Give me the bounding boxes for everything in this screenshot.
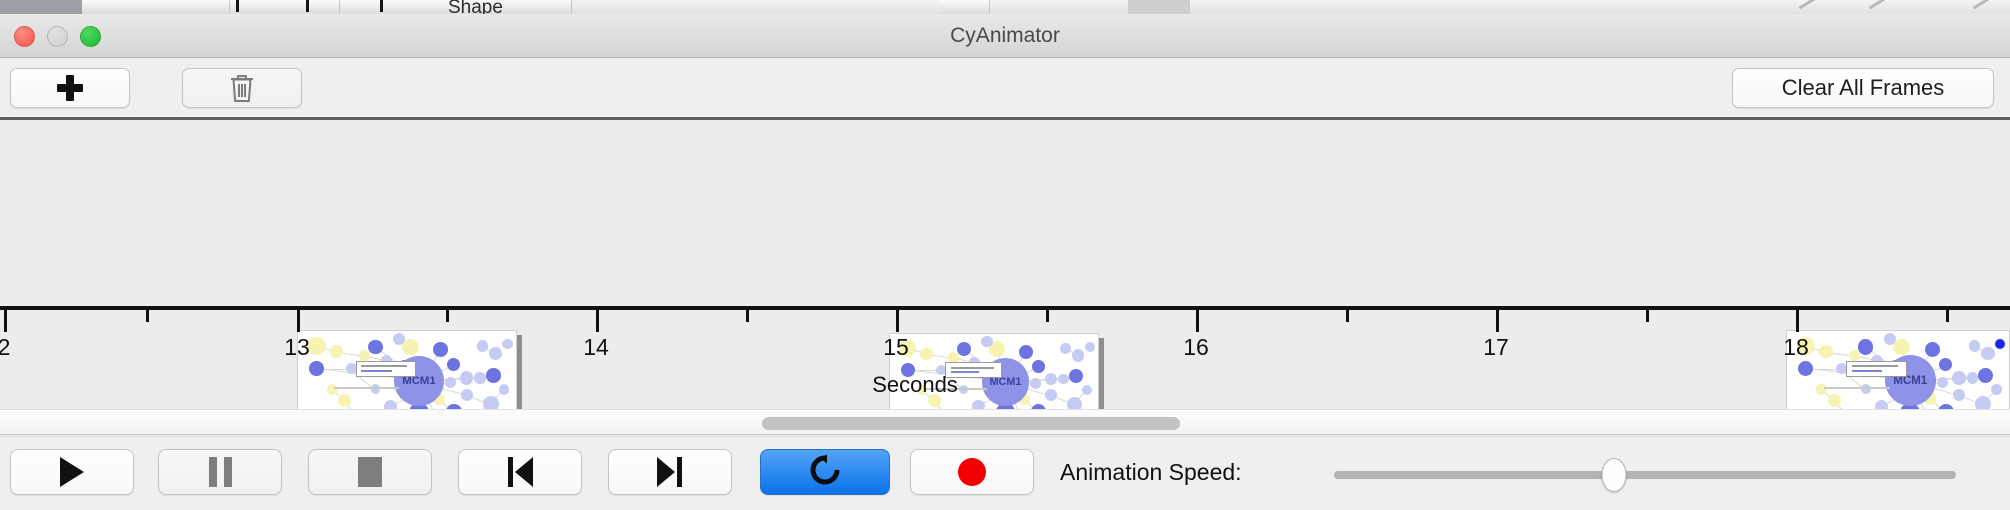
tick-minor: [1046, 310, 1049, 322]
timeline-scrollbar[interactable]: [0, 409, 2010, 435]
network-node: [1969, 340, 1981, 352]
animation-speed-slider[interactable]: [1334, 471, 1956, 479]
tick-major: [1496, 310, 1499, 332]
timeline-scrollbar-thumb[interactable]: [762, 417, 1180, 430]
tick-label: 15: [883, 334, 909, 361]
record-button[interactable]: [910, 449, 1034, 495]
axis-title-label: Seconds: [872, 372, 958, 397]
network-node: [981, 336, 993, 348]
network-node: [1981, 347, 1994, 360]
network-node: [1975, 396, 1991, 409]
tick-major: [896, 310, 899, 332]
network-node: [1819, 345, 1832, 358]
animation-speed-label: Animation Speed:: [1060, 459, 1242, 486]
play-button[interactable]: [10, 449, 134, 495]
network-node: [920, 348, 932, 360]
network-node: [1072, 349, 1084, 361]
network-node: [477, 340, 488, 351]
background-app-label: Shape: [448, 0, 503, 14]
slider-track: [1334, 471, 1956, 479]
trash-icon: [229, 73, 255, 103]
network-node: [502, 339, 512, 349]
background-window-strip: Shape: [0, 0, 2010, 14]
network-node: [972, 400, 984, 409]
network-node: [489, 347, 502, 360]
network-node: [1060, 343, 1071, 354]
record-icon: [958, 458, 986, 486]
tick-label: 17: [1483, 334, 1509, 361]
play-icon: [60, 457, 84, 487]
tick-major: [297, 310, 300, 332]
pause-icon: [209, 457, 232, 487]
toolbar: Clear All Frames: [0, 58, 2010, 117]
window-title: CyAnimator: [0, 14, 2010, 58]
network-node: [1019, 345, 1033, 359]
network-node: [1875, 400, 1888, 409]
loop-icon: [808, 453, 842, 492]
titlebar: CyAnimator: [0, 14, 2010, 58]
network-node: [447, 358, 460, 371]
clear-all-frames-button[interactable]: Clear All Frames: [1732, 68, 1994, 108]
skip-back-icon: [505, 457, 535, 487]
loop-button[interactable]: [760, 449, 890, 495]
tick-minor: [1346, 310, 1349, 322]
cyanimator-window: Shape CyAnimator Clear All Frames M: [0, 0, 2010, 510]
network-node: [1858, 339, 1873, 354]
timeline-panel[interactable]: MCM1MCM1MCM1 2131415161718 Seconds: [0, 120, 2010, 409]
stop-button[interactable]: [308, 449, 432, 495]
network-node: [384, 400, 397, 409]
network-node: [1067, 397, 1082, 409]
network-node: [1925, 342, 1940, 357]
pause-button[interactable]: [158, 449, 282, 495]
network-node: [330, 345, 343, 358]
tick-label: 13: [284, 334, 310, 361]
tick-major: [596, 310, 599, 332]
tick-minor: [446, 310, 449, 322]
tick-label: 14: [583, 334, 609, 361]
transport-bar: Animation Speed:: [0, 436, 2010, 510]
network-node: [1085, 342, 1095, 352]
skip-forward-button[interactable]: [608, 449, 732, 495]
network-node: [433, 342, 448, 357]
tick-major: [4, 310, 7, 332]
tick-major: [1196, 310, 1199, 332]
network-node: [359, 350, 370, 361]
skip-forward-icon: [655, 457, 685, 487]
delete-frame-button[interactable]: [182, 68, 302, 108]
tick-label: 2: [0, 334, 10, 361]
timeline-axis: [0, 306, 2010, 310]
clear-all-frames-label: Clear All Frames: [1782, 75, 1945, 101]
skip-back-button[interactable]: [458, 449, 582, 495]
plus-icon: [57, 75, 83, 101]
network-node: [483, 396, 499, 409]
tick-minor: [146, 310, 149, 322]
network-node: [307, 337, 325, 355]
network-node: [368, 340, 383, 355]
tick-major: [1796, 310, 1799, 332]
add-frame-button[interactable]: [10, 68, 130, 108]
slider-thumb[interactable]: [1601, 458, 1626, 492]
stop-icon: [358, 457, 382, 487]
axis-title: Seconds: [0, 372, 2010, 398]
tick-minor: [1946, 310, 1949, 322]
network-node: [1995, 339, 2006, 350]
network-node: [948, 352, 959, 363]
tick-label: 18: [1783, 334, 1809, 361]
tick-minor: [1646, 310, 1649, 322]
tick-minor: [746, 310, 749, 322]
network-node: [1939, 358, 1952, 371]
network-node: [1032, 360, 1044, 372]
tick-label: 16: [1183, 334, 1209, 361]
